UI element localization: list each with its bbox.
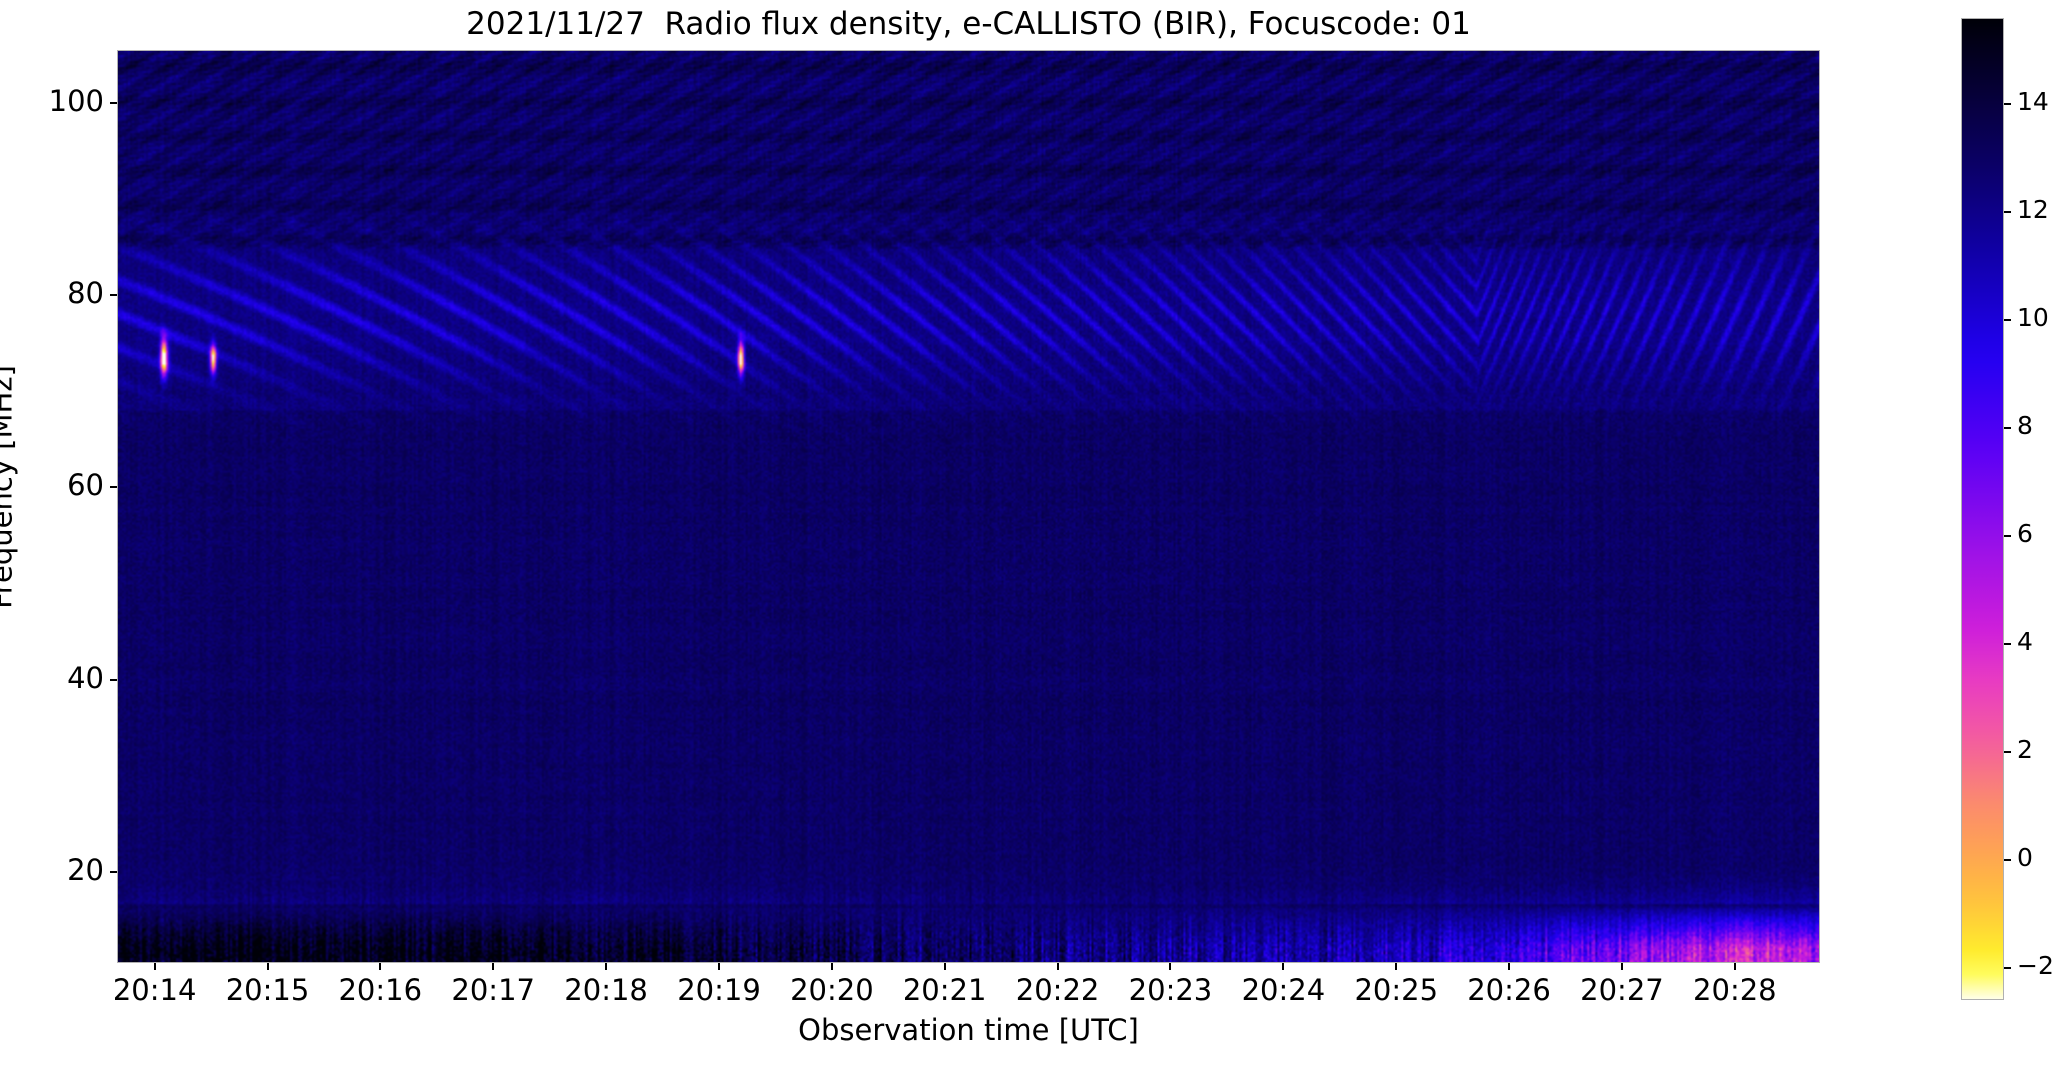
colorbar-tick-mark	[2004, 643, 2011, 645]
colorbar-tick-mark	[2004, 319, 2011, 321]
colorbar-ticks: 14121086420−2	[1961, 18, 2066, 1000]
x-tick-mark	[1057, 963, 1059, 970]
x-tick-mark	[492, 963, 494, 970]
y-axis-ticks: 10080604020	[0, 50, 117, 963]
colorbar-tick-mark	[2004, 967, 2011, 969]
y-tick-mark	[110, 679, 117, 681]
colorbar-tick-mark	[2004, 211, 2011, 213]
x-tick-mark	[718, 963, 720, 970]
colorbar-tick-mark	[2004, 103, 2011, 105]
x-tick-mark	[379, 963, 381, 970]
y-tick-label: 40	[67, 661, 104, 695]
x-axis-label: Observation time [UTC]	[117, 1013, 1820, 1047]
x-tick-mark	[1734, 963, 1736, 970]
colorbar-tick-label: 2	[2017, 735, 2033, 764]
colorbar-tick-label: 4	[2017, 627, 2033, 656]
y-tick-label: 80	[67, 276, 104, 310]
spectrogram-image	[118, 51, 1819, 962]
colorbar-tick-label: 6	[2017, 519, 2033, 548]
y-tick-label: 60	[67, 468, 104, 502]
x-tick-mark	[154, 963, 156, 970]
colorbar-tick-label: 12	[2017, 195, 2049, 224]
colorbar-tick-label: 10	[2017, 303, 2049, 332]
y-tick-label: 20	[67, 853, 104, 887]
y-tick-mark	[110, 871, 117, 873]
colorbar-tick-label: 14	[2017, 87, 2049, 116]
x-tick-label: 20:28	[1655, 973, 1815, 1007]
colorbar-tick-mark	[2004, 751, 2011, 753]
y-tick-mark	[110, 294, 117, 296]
chart-title: 2021/11/27 Radio flux density, e-CALLIST…	[117, 2, 1820, 46]
x-tick-mark	[1282, 963, 1284, 970]
colorbar-tick-mark	[2004, 859, 2011, 861]
x-tick-mark	[1508, 963, 1510, 970]
colorbar-tick-mark	[2004, 535, 2011, 537]
x-tick-mark	[1621, 963, 1623, 970]
x-tick-mark	[831, 963, 833, 970]
x-tick-mark	[1395, 963, 1397, 970]
y-tick-mark	[110, 486, 117, 488]
colorbar-tick-mark	[2004, 427, 2011, 429]
x-tick-mark	[1169, 963, 1171, 970]
figure-canvas: 2021/11/27 Radio flux density, e-CALLIST…	[0, 0, 2066, 1067]
spectrogram-axes[interactable]	[117, 50, 1820, 963]
y-tick-mark	[110, 102, 117, 104]
colorbar-tick-label: −2	[2017, 951, 2054, 980]
colorbar-tick-label: 8	[2017, 411, 2033, 440]
x-tick-mark	[605, 963, 607, 970]
y-tick-label: 100	[49, 84, 104, 118]
colorbar-tick-label: 0	[2017, 843, 2033, 872]
x-tick-mark	[944, 963, 946, 970]
x-tick-mark	[267, 963, 269, 970]
